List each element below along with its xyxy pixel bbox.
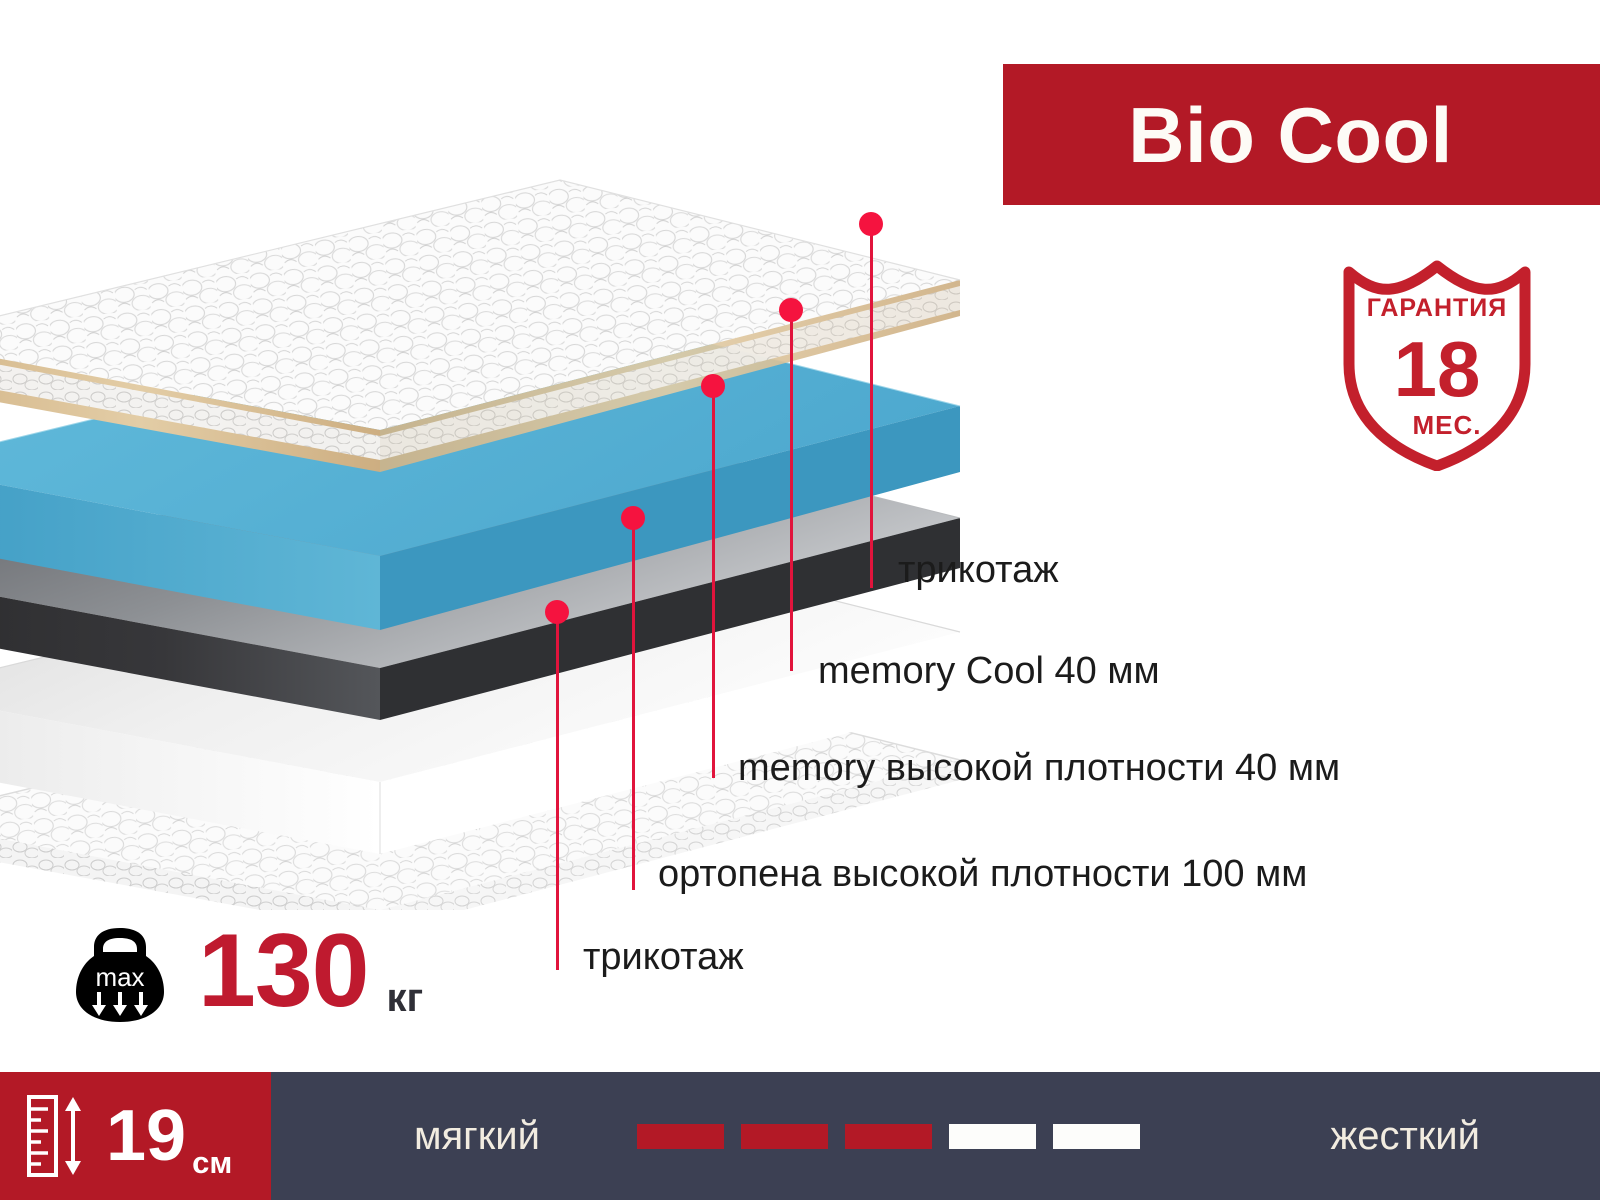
brand-title: Bio Cool <box>1128 96 1475 174</box>
callout-line-memory-cool <box>790 310 793 671</box>
callout-label-bottom-knit: трикотаж <box>583 938 744 976</box>
callout-dot-memory-dense <box>701 374 725 398</box>
ruler-icon <box>26 1093 90 1179</box>
max-weight-block: max 130 кг <box>72 916 423 1026</box>
brand-title-banner: Bio Cool <box>1003 64 1600 205</box>
guarantee-value: 18 <box>1394 325 1481 413</box>
firmness-segment-4 <box>949 1124 1036 1149</box>
height-value: 19 <box>106 1100 186 1172</box>
firmness-scale-track <box>637 1124 1140 1149</box>
mattress-illustration <box>0 120 970 910</box>
height-unit: см <box>192 1147 232 1200</box>
product-infographic: трикотаж memory Cool 40 мм memory высоко… <box>0 0 1600 1200</box>
callout-label-memory-dense: memory высокой плотности 40 мм <box>738 749 1340 787</box>
kettlebell-arrows <box>92 992 148 1016</box>
bottom-bar: 19 см мягкий жесткий <box>0 1072 1600 1200</box>
callout-dot-top-knit <box>859 212 883 236</box>
firmness-scale-block: мягкий жесткий <box>271 1072 1600 1200</box>
max-weight-value: 130 <box>198 919 369 1023</box>
callout-dot-ortopena <box>621 506 645 530</box>
firmness-segment-5 <box>1053 1124 1140 1149</box>
guarantee-unit: МЕС. <box>1413 410 1482 440</box>
firmness-segment-3 <box>845 1124 932 1149</box>
firmness-soft-label: мягкий <box>414 1116 540 1156</box>
kettlebell-max-text: max <box>95 962 144 992</box>
callout-line-top-knit <box>870 224 873 588</box>
firmness-segment-1 <box>637 1124 724 1149</box>
guarantee-shield-badge: ГАРАНТИЯ 18 МЕС. <box>1337 256 1537 471</box>
firmness-segment-2 <box>741 1124 828 1149</box>
guarantee-top-text: ГАРАНТИЯ <box>1367 294 1507 322</box>
callout-dot-memory-cool <box>779 298 803 322</box>
callout-line-ortopena <box>632 518 635 890</box>
callout-line-memory-dense <box>712 386 715 778</box>
kettlebell-icon: max <box>72 916 168 1026</box>
callout-label-top-knit: трикотаж <box>898 551 1059 589</box>
callout-line-bottom-knit <box>556 612 559 970</box>
callout-label-ortopena: ортопена высокой плотности 100 мм <box>658 855 1307 893</box>
height-block: 19 см <box>0 1072 271 1200</box>
max-weight-unit: кг <box>387 978 424 1026</box>
firmness-hard-label: жесткий <box>1330 1116 1480 1156</box>
callout-dot-bottom-knit <box>545 600 569 624</box>
callout-label-memory-cool: memory Cool 40 мм <box>818 652 1160 690</box>
